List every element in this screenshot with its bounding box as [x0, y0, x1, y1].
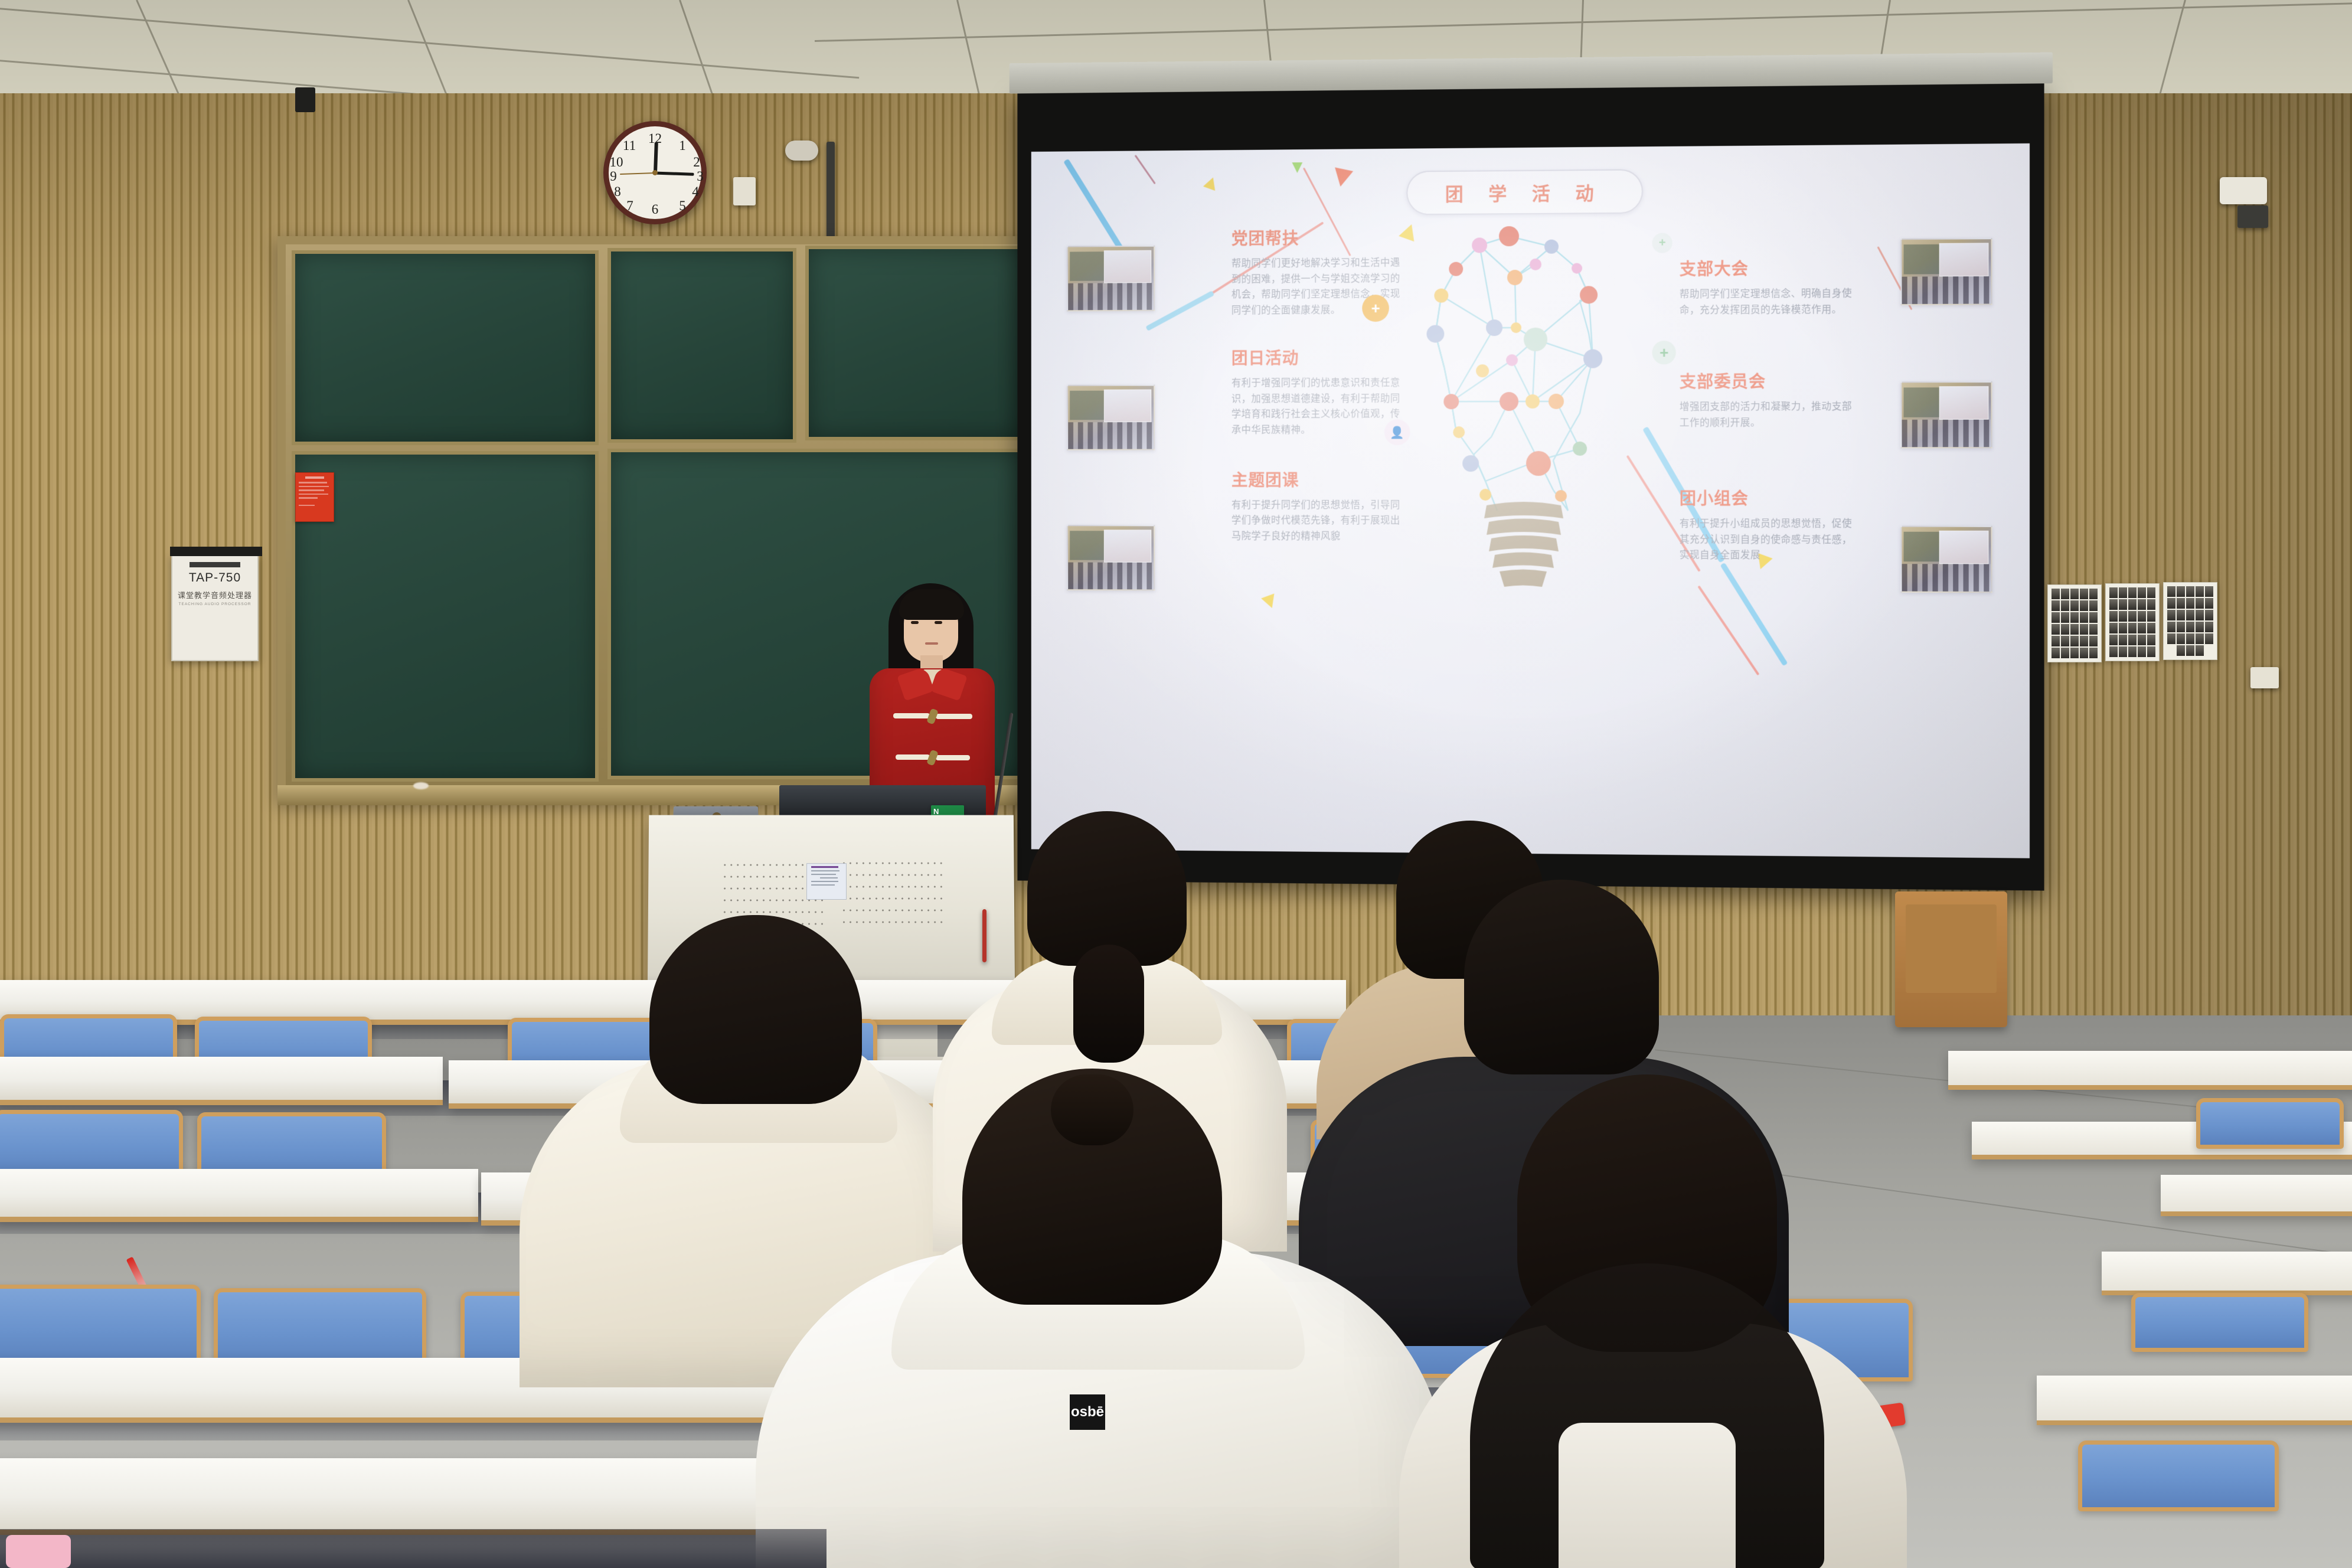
- emergency-light: [2220, 177, 2267, 204]
- lectern-nameplate: [806, 863, 847, 900]
- desk-row-b: [0, 1057, 443, 1105]
- slide-body-2: 有利于增强同学们的忧患意识和责任意识，加强思想道德建设，有利于帮助同学培育和践行…: [1231, 375, 1407, 438]
- slide-block-zhibudahui: 支部大会 帮助同学们坚定理想信念、明确自身使命，充分发挥团员的先锋模范作用。: [1680, 256, 1858, 319]
- slide-thumbnail-5: [1900, 381, 1992, 448]
- person-badge-icon: 👤: [1384, 419, 1410, 445]
- foreground-desk-shadow: [0, 1529, 827, 1568]
- plus-badge-icon: +: [1362, 295, 1389, 322]
- projected-slide: 团 学 活 动: [1031, 143, 2030, 858]
- plus-badge-green-icon: +: [1652, 341, 1676, 364]
- wall-clock: 12 1 2 3 4 5 6 7 8 9 10 11: [603, 121, 707, 224]
- slide-body-3: 有利于提升同学们的思想觉悟，引导同学们争做时代模范先锋，有利于展现出马院学子良好…: [1231, 498, 1407, 545]
- hoodie-logo-text: osbē: [1071, 1406, 1104, 1418]
- hoodie-logo-patch: osbē: [1070, 1394, 1105, 1430]
- slide-thumbnail-6: [1900, 526, 1992, 593]
- side-desk-1: [1948, 1051, 2352, 1090]
- ceiling-camera: [785, 141, 818, 161]
- chair-d1[interactable]: [0, 1285, 201, 1367]
- plus-badge-faint-icon: +: [1652, 233, 1672, 253]
- slide-heading-6: 团小组会: [1680, 486, 1858, 509]
- ceiling-sensor-left: [295, 87, 315, 112]
- slide-thumbnail-2: [1067, 385, 1155, 450]
- slide-body-6: 有利于提升小组成员的思想觉悟，促使其充分认识到自身的使命感与责任感，实现自身全面…: [1680, 516, 1858, 564]
- chair-side-2[interactable]: [2131, 1293, 2308, 1352]
- lightbulb-network-nodes-icon: [1386, 211, 1663, 608]
- slide-block-tuanrihuodong: 团日活动 有利于增强同学们的忧患意识和责任意识，加强思想道德建设，有利于帮助同学…: [1231, 345, 1407, 439]
- audio-processor-en-label: TEACHING AUDIO PROCESSOR: [172, 602, 257, 606]
- chair-side-3[interactable]: [2078, 1440, 2279, 1511]
- slide-block-zhutituanke: 主题团课 有利于提升同学们的思想觉悟，引导同学们争做时代模范先锋，有利于展现出马…: [1231, 468, 1407, 545]
- wooden-chair[interactable]: [1895, 891, 2007, 1027]
- clock-hour-hand: [654, 142, 658, 172]
- student-photo-board-3: [2163, 582, 2217, 660]
- blackboard-notice: [295, 472, 334, 522]
- desk-row-c: [0, 1169, 478, 1222]
- side-desk-5: [2037, 1376, 2352, 1425]
- projection-screen: 团 学 活 动: [1017, 83, 2044, 890]
- slide-heading-4: 支部大会: [1680, 256, 1858, 280]
- slide-heading-1: 党团帮扶: [1231, 225, 1407, 250]
- clock-minute-hand: [655, 171, 694, 175]
- audio-processor-cn-label: 课堂教学音频处理器: [172, 589, 257, 600]
- side-desk-4: [2102, 1252, 2352, 1295]
- slide-right-column: 支部大会 帮助同学们坚定理想信念、明确自身使命，充分发挥团员的先锋模范作用。 支…: [1680, 256, 1858, 589]
- audio-processor-model: TAP-750: [172, 571, 257, 585]
- audience-member-5: osbē: [744, 1057, 1452, 1568]
- student-photo-board-2: [2105, 583, 2160, 661]
- slide-body-5: 增强团支部的活力和凝聚力，推动支部工作的顺利开展。: [1680, 399, 1858, 431]
- slide-title: 团 学 活 动: [1406, 169, 1643, 215]
- audience-member-6: [1381, 1069, 1913, 1568]
- slide-left-column: 党团帮扶 帮助同学们更好地解决学习和生活中遇到的困难，提供一个与学姐交流学习的机…: [1231, 225, 1407, 569]
- student-photo-board-1: [2047, 584, 2102, 662]
- wall-speaker-right: [2237, 205, 2268, 228]
- slide-thumbnail-1: [1067, 246, 1155, 312]
- slide-heading-2: 团日活动: [1231, 345, 1407, 370]
- slide-body-4: 帮助同学们坚定理想信念、明确自身使命，充分发挥团员的先锋模范作用。: [1680, 286, 1858, 318]
- slide-block-zhibuweiyuanhui: 支部委员会 增强团支部的活力和凝聚力，推动支部工作的顺利开展。: [1680, 369, 1858, 432]
- slide-thumbnail-4: [1900, 238, 1992, 305]
- outlet-plate: [733, 177, 756, 205]
- slide-heading-3: 主题团课: [1231, 468, 1407, 491]
- desk-row-e: [0, 1458, 803, 1535]
- clock-second-hand: [620, 172, 655, 175]
- wall-outlet-right: [2250, 667, 2279, 688]
- pink-item: [6, 1535, 71, 1568]
- slide-heading-5: 支部委员会: [1680, 369, 1858, 393]
- slide-block-tuanxiaozuhui: 团小组会 有利于提升小组成员的思想觉悟，促使其充分认识到自身的使命感与责任感，实…: [1680, 486, 1858, 564]
- side-desk-3: [2161, 1175, 2352, 1216]
- slide-thumbnail-3: [1067, 525, 1155, 590]
- classroom-scene: 12 1 2 3 4 5 6 7 8 9 10 11 TAP-750 课堂教学音…: [0, 0, 2352, 1568]
- chair-side-1[interactable]: [2196, 1098, 2344, 1149]
- audio-processor-unit: TAP-750 课堂教学音频处理器 TEACHING AUDIO PROCESS…: [171, 555, 259, 661]
